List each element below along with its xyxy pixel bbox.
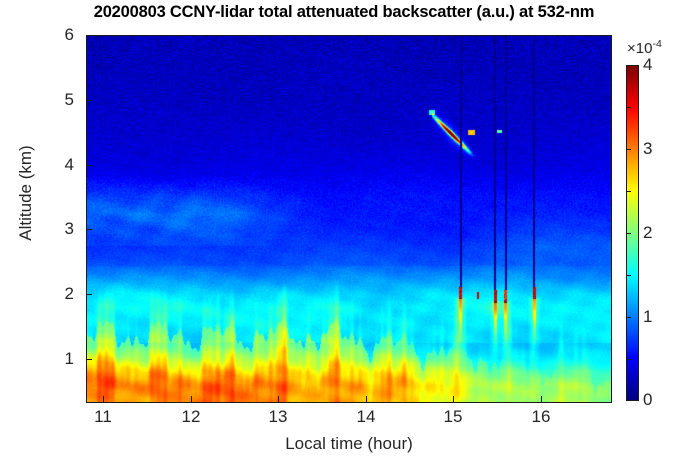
y-tick-6 <box>86 35 92 36</box>
colorbar-label-2: 2 <box>643 223 677 243</box>
colorbar-minor-tick-1p5 <box>626 275 631 276</box>
x-tick-label-12: 12 <box>166 407 216 427</box>
x-tick-11 <box>103 396 104 402</box>
y-tick-label-2: 2 <box>34 284 74 304</box>
colorbar-label-4: 4 <box>643 55 677 75</box>
y-tick-5 <box>86 100 92 101</box>
y-tick-label-6: 6 <box>34 25 74 45</box>
y-tick-4 <box>86 165 92 166</box>
y-tick-label-1: 1 <box>34 349 74 369</box>
x-tick-label-13: 13 <box>253 407 303 427</box>
heatmap-plot-area <box>86 35 612 403</box>
x-tick-label-15: 15 <box>428 407 478 427</box>
colorbar-minor-tick-2p5 <box>626 191 631 192</box>
x-axis-label: Local time (hour) <box>86 434 612 454</box>
colorbar-minor-tick-3p5 <box>626 107 631 108</box>
y-tick-1 <box>86 359 92 360</box>
colorbar-exponent-value: -4 <box>652 38 661 50</box>
y-tick-label-3: 3 <box>34 219 74 239</box>
lidar-backscatter-figure: 20200803 CCNY-lidar total attenuated bac… <box>0 0 688 466</box>
x-tick-label-11: 11 <box>78 407 128 427</box>
colorbar-minor-tick-0p5 <box>626 359 631 360</box>
colorbar-tick-4 <box>626 65 631 66</box>
y-tick-3 <box>86 229 92 230</box>
x-tick-14 <box>366 396 367 402</box>
colorbar-label-0: 0 <box>643 390 677 410</box>
colorbar-tick-3 <box>626 149 631 150</box>
colorbar-label-1: 1 <box>643 307 677 327</box>
colorbar-tick-2 <box>626 233 631 234</box>
x-tick-16 <box>541 396 542 402</box>
figure-title: 20200803 CCNY-lidar total attenuated bac… <box>0 3 688 22</box>
colorbar-tick-0 <box>626 400 631 401</box>
y-tick-label-4: 4 <box>34 155 74 175</box>
x-tick-15 <box>453 396 454 402</box>
backscatter-heatmap <box>87 36 612 403</box>
x-tick-12 <box>191 396 192 402</box>
y-axis-label: Altitude (km) <box>16 108 36 278</box>
colorbar-label-3: 3 <box>643 139 677 159</box>
y-tick-label-5: 5 <box>34 90 74 110</box>
x-tick-13 <box>278 396 279 402</box>
x-tick-label-14: 14 <box>341 407 391 427</box>
colorbar-tick-1 <box>626 317 631 318</box>
y-tick-2 <box>86 294 92 295</box>
x-tick-label-16: 16 <box>516 407 566 427</box>
